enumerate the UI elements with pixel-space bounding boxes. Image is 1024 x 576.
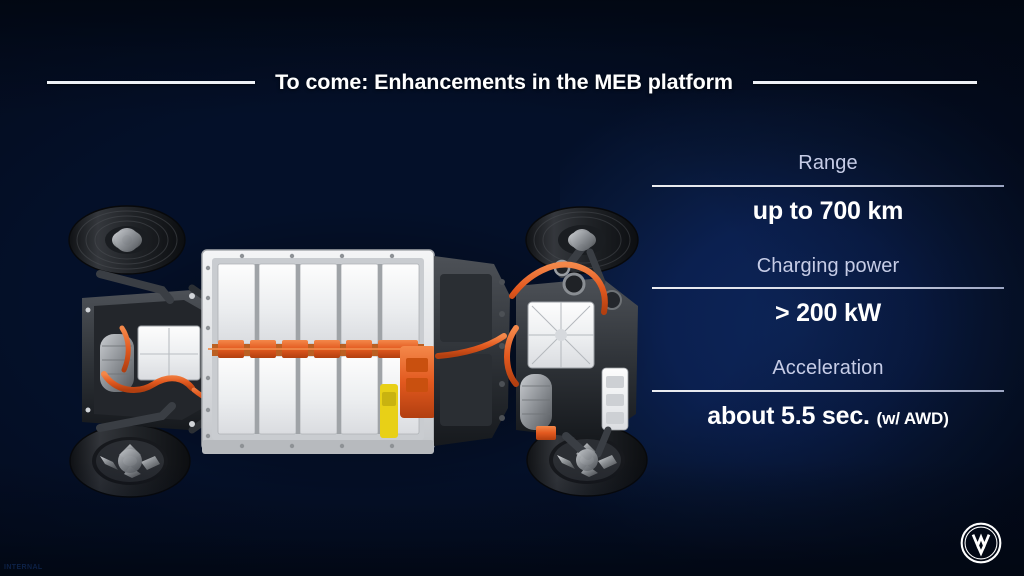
spec-panel: Range up to 700 km Charging power > 200 …: [652, 150, 1004, 431]
title-rule-left: [47, 81, 255, 84]
spec-value-acceleration-main: about 5.5 sec.: [707, 402, 870, 430]
spec-block-range: Range up to 700 km: [652, 150, 1004, 226]
volkswagen-logo: [960, 522, 1002, 564]
spec-label-acceleration: Acceleration: [652, 355, 1004, 383]
spec-value-charging-power: > 200 kW: [652, 298, 1004, 328]
spec-label-charging-power: Charging power: [652, 253, 1004, 281]
page-title: To come: Enhancements in the MEB platfor…: [275, 70, 733, 95]
slide-root: To come: Enhancements in the MEB platfor…: [0, 0, 1024, 576]
spec-divider-charging-power: [652, 287, 1004, 289]
title-rule-right: [753, 81, 977, 84]
spec-divider-range: [652, 185, 1004, 187]
spec-label-range: Range: [652, 150, 1004, 178]
spec-value-range: up to 700 km: [652, 196, 1004, 226]
internal-watermark: INTERNAL: [4, 564, 43, 571]
spec-block-charging-power: Charging power > 200 kW: [652, 253, 1004, 329]
spec-block-acceleration: Acceleration about 5.5 sec. (w/ AWD): [652, 355, 1004, 431]
spec-value-acceleration-suffix: (w/ AWD): [877, 409, 949, 428]
spec-divider-acceleration: [652, 390, 1004, 392]
spec-value-acceleration: about 5.5 sec. (w/ AWD): [652, 401, 1004, 431]
title-band: To come: Enhancements in the MEB platfor…: [0, 62, 1024, 102]
